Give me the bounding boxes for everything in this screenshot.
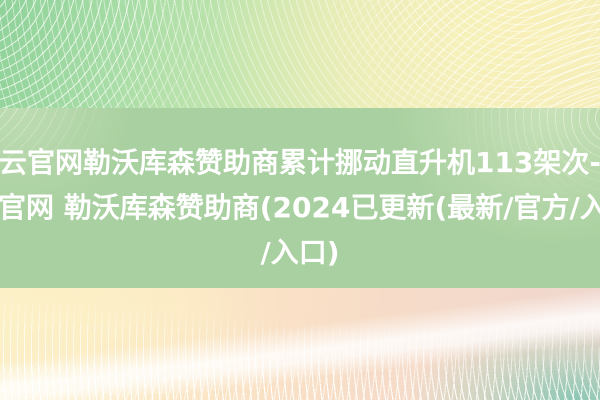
caption-line-3: /入口) [0, 230, 600, 275]
bottom-gradient [0, 288, 600, 400]
caption-text-block: 开云官网勒沃库森赞助商累计挪动直升机113架次-开 云官网 勒沃库森赞助商(20… [0, 108, 600, 288]
bottom-left-arc-pattern-icon [0, 288, 600, 400]
caption-line-1: 开云官网勒沃库森赞助商累计挪动直升机113架次-开 [0, 140, 600, 185]
bottom-light-streak [0, 288, 600, 400]
bottom-right-arc-pattern-icon [0, 288, 600, 400]
bottom-glow [0, 288, 600, 400]
banner-image: 开云官网勒沃库森赞助商累计挪动直升机113架次-开 云官网 勒沃库森赞助商(20… [0, 0, 600, 400]
caption-line-2: 云官网 勒沃库森赞助商(2024已更新(最新/官方/入口 [0, 185, 600, 230]
